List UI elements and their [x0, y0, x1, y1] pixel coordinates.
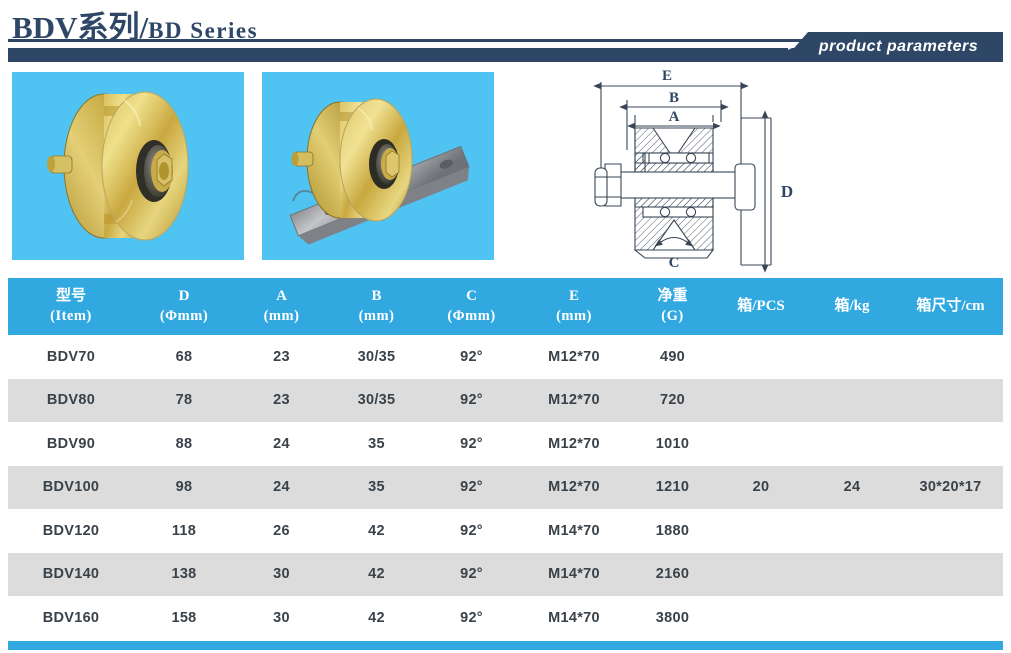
cell-carton-size: 30*20*17 — [898, 479, 1003, 495]
table-bottom-rule — [8, 641, 1003, 650]
cell-net-weight: 1880 — [629, 523, 716, 539]
cell-item: BDV140 — [8, 566, 134, 582]
table-body: BDV70 68 23 30/35 92° M12*70 490 BDV80 7… — [8, 335, 1003, 640]
cell-c: 92° — [424, 349, 519, 365]
table-row: BDV90 88 24 35 92° M12*70 1010 — [8, 422, 1003, 466]
cell-net-weight: 1210 — [629, 479, 716, 495]
cell-b: 30/35 — [329, 392, 424, 408]
cell-e: M14*70 — [519, 610, 629, 626]
table-row: BDV120 118 26 42 92° M14*70 1880 — [8, 509, 1003, 553]
cell-d: 68 — [134, 349, 234, 365]
cell-c: 92° — [424, 566, 519, 582]
cell-e: M12*70 — [519, 349, 629, 365]
cell-a: 26 — [234, 523, 329, 539]
column-header-net-weight: 净重 (G) — [629, 287, 716, 326]
column-header-d: D (Φmm) — [134, 287, 234, 326]
cell-c: 92° — [424, 392, 519, 408]
cell-c: 92° — [424, 436, 519, 452]
cell-a: 30 — [234, 610, 329, 626]
cell-item: BDV70 — [8, 349, 134, 365]
cell-b: 30/35 — [329, 349, 424, 365]
table-row: BDV100 98 24 35 92° M12*70 1210 20 24 30… — [8, 466, 1003, 510]
product-parameters-banner: product parameters — [782, 32, 1003, 62]
cell-d: 138 — [134, 566, 234, 582]
cell-e: M14*70 — [519, 523, 629, 539]
cell-c: 92° — [424, 610, 519, 626]
cell-net-weight: 490 — [629, 349, 716, 365]
cell-b: 35 — [329, 436, 424, 452]
drawing-label-b: B — [669, 90, 679, 106]
banner-label: product parameters — [807, 38, 978, 56]
cell-net-weight: 2160 — [629, 566, 716, 582]
cell-item: BDV90 — [8, 436, 134, 452]
cell-d: 158 — [134, 610, 234, 626]
cell-d: 98 — [134, 479, 234, 495]
wheel-on-rail-photo — [262, 72, 494, 260]
cell-kg: 24 — [806, 479, 898, 495]
cell-a: 30 — [234, 566, 329, 582]
cell-b: 42 — [329, 566, 424, 582]
cell-a: 23 — [234, 349, 329, 365]
cell-e: M14*70 — [519, 566, 629, 582]
cell-c: 92° — [424, 479, 519, 495]
title-block: BDV系列/BD Series product parameters — [0, 0, 1011, 60]
column-header-item: 型号 (Item) — [8, 287, 134, 326]
cell-c: 92° — [424, 523, 519, 539]
cell-net-weight: 3800 — [629, 610, 716, 626]
column-header-kg-per-carton: 箱/kg — [806, 297, 898, 317]
table-row: BDV140 138 30 42 92° M14*70 2160 — [8, 553, 1003, 597]
product-spec-sheet: BDV系列/BD Series product parameters — [0, 0, 1011, 653]
column-header-carton-size: 箱尺寸/cm — [898, 297, 1003, 317]
cell-e: M12*70 — [519, 436, 629, 452]
v-groove-wheel-photo — [12, 72, 244, 260]
table-row: BDV160 158 30 42 92° M14*70 3800 — [8, 596, 1003, 640]
drawing-label-d: D — [781, 182, 793, 201]
column-header-a: A (mm) — [234, 287, 329, 326]
wheel-cross-section-drawing: E B A D C — [575, 60, 820, 275]
column-header-pcs-per-carton: 箱/PCS — [716, 297, 806, 317]
table-row: BDV80 78 23 30/35 92° M12*70 720 — [8, 379, 1003, 423]
cell-item: BDV80 — [8, 392, 134, 408]
cell-b: 42 — [329, 610, 424, 626]
cell-d: 118 — [134, 523, 234, 539]
drawing-label-c: C — [669, 255, 680, 271]
specification-table: 型号 (Item) D (Φmm) A (mm) B (mm) C (Φmm) … — [8, 278, 1003, 640]
cell-d: 88 — [134, 436, 234, 452]
table-header-row: 型号 (Item) D (Φmm) A (mm) B (mm) C (Φmm) … — [8, 278, 1003, 335]
cell-net-weight: 720 — [629, 392, 716, 408]
cell-e: M12*70 — [519, 392, 629, 408]
drawing-label-a: A — [669, 109, 680, 125]
cell-item: BDV100 — [8, 479, 134, 495]
cell-e: M12*70 — [519, 479, 629, 495]
cell-b: 42 — [329, 523, 424, 539]
column-header-e: E (mm) — [519, 287, 629, 326]
cell-a: 23 — [234, 392, 329, 408]
column-header-b: B (mm) — [329, 287, 424, 326]
cell-d: 78 — [134, 392, 234, 408]
drawing-label-e: E — [662, 68, 672, 84]
table-row: BDV70 68 23 30/35 92° M12*70 490 — [8, 335, 1003, 379]
cell-b: 35 — [329, 479, 424, 495]
cell-a: 24 — [234, 479, 329, 495]
cell-item: BDV120 — [8, 523, 134, 539]
cell-net-weight: 1010 — [629, 436, 716, 452]
cell-item: BDV160 — [8, 610, 134, 626]
column-header-c: C (Φmm) — [424, 287, 519, 326]
cell-a: 24 — [234, 436, 329, 452]
cell-pcs: 20 — [716, 479, 806, 495]
